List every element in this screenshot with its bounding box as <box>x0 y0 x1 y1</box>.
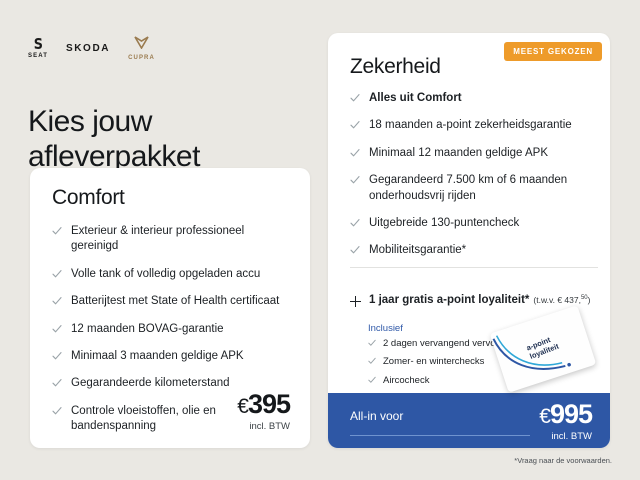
list-item: Mobiliteitsgarantie* <box>350 243 598 258</box>
list-item: Alles uit Comfort <box>350 91 598 106</box>
seat-logo: S SEAT <box>28 38 48 59</box>
check-icon <box>52 324 62 334</box>
check-icon <box>350 175 360 185</box>
status-badge: MEEST GEKOZEN <box>504 42 602 61</box>
allin-price: €995 <box>539 401 592 428</box>
check-icon <box>368 339 376 347</box>
check-icon <box>52 269 62 279</box>
list-item: Gegarandeerd 7.500 km of 6 maanden onder… <box>350 173 598 204</box>
feature-text: Gegarandeerd 7.500 km of 6 maanden onder… <box>369 173 598 204</box>
comfort-title: Comfort <box>52 186 125 210</box>
check-icon <box>350 120 360 130</box>
feature-text: 18 maanden a-point zekerheidsgarantie <box>369 118 572 133</box>
feature-text: Mobiliteitsgarantie* <box>369 243 466 258</box>
skoda-wordmark: SKODA <box>66 43 110 54</box>
worth-cents: 50 <box>581 295 588 301</box>
feature-text: Minimaal 3 maanden geldige APK <box>71 349 292 364</box>
list-item: 12 maanden BOVAG-garantie <box>52 322 292 337</box>
offer-page: S SEAT SKODA CUPRA Kies jouw afleverpakk… <box>0 0 640 480</box>
check-icon <box>350 148 360 158</box>
check-icon <box>52 226 62 236</box>
cupra-logo: CUPRA <box>128 36 155 61</box>
feature-text: Exterieur & interieur professioneel gere… <box>71 224 292 255</box>
zekerheid-feature-list: Alles uit Comfort 18 maanden a-point zek… <box>350 91 598 271</box>
check-icon <box>52 351 62 361</box>
allin-rule <box>350 435 530 436</box>
zekerheid-package-card[interactable]: MEEST GEKOZEN Zekerheid Alles uit Comfor… <box>328 33 610 448</box>
feature-text: Volle tank of volledig opgeladen accu <box>71 267 292 282</box>
list-item: Batterijtest met State of Health certifi… <box>52 294 292 309</box>
plus-icon <box>350 296 360 306</box>
list-item: Minimaal 3 maanden geldige APK <box>52 349 292 364</box>
feature-text: Alles uit Comfort <box>369 91 462 106</box>
worth-suffix: ) <box>588 295 591 305</box>
included-text: 2 dagen vervangend vervoer <box>383 338 504 349</box>
section-divider <box>350 267 598 268</box>
loyalty-worth: (t.w.v. € 437,50) <box>533 295 590 305</box>
comfort-price-block: €395 incl. BTW <box>237 391 290 432</box>
list-item: Minimaal 12 maanden geldige APK <box>350 146 598 161</box>
check-icon <box>52 296 62 306</box>
check-icon <box>350 218 360 228</box>
included-text: Aircocheck <box>383 375 429 386</box>
allin-price-block: €995 incl. BTW <box>539 401 592 442</box>
price-amount: 995 <box>550 399 592 429</box>
list-item: Exterieur & interieur professioneel gere… <box>52 224 292 255</box>
loyalty-label: 1 jaar gratis a-point loyaliteit* <box>369 294 529 306</box>
list-item: Volle tank of volledig opgeladen accu <box>52 267 292 282</box>
feature-text: Minimaal 12 maanden geldige APK <box>369 146 548 161</box>
list-item: 18 maanden a-point zekerheidsgarantie <box>350 118 598 133</box>
feature-text: 12 maanden BOVAG-garantie <box>71 322 292 337</box>
allin-price-note: incl. BTW <box>539 431 592 442</box>
currency-symbol: € <box>237 395 248 418</box>
loyalty-row: 1 jaar gratis a-point loyaliteit*(t.w.v.… <box>350 293 606 308</box>
worth-prefix: (t.w.v. € 437, <box>533 295 581 305</box>
comfort-price-note: incl. BTW <box>237 421 290 432</box>
feature-text: Batterijtest met State of Health certifi… <box>71 294 292 309</box>
brand-logo-row: S SEAT SKODA CUPRA <box>28 36 155 61</box>
skoda-logo: SKODA <box>66 43 110 54</box>
check-icon <box>52 378 62 388</box>
included-text: Zomer- en winterchecks <box>383 356 484 367</box>
comfort-price: €395 <box>237 391 290 418</box>
zekerheid-title: Zekerheid <box>350 55 441 79</box>
check-icon <box>350 245 360 255</box>
currency-symbol: € <box>539 405 550 428</box>
list-item: Uitgebreide 130-puntencheck <box>350 216 598 231</box>
check-icon <box>368 376 376 384</box>
price-amount: 395 <box>248 389 290 419</box>
check-icon <box>368 357 376 365</box>
included-heading: Inclusief <box>368 323 403 334</box>
loyalty-text: 1 jaar gratis a-point loyaliteit*(t.w.v.… <box>369 293 591 308</box>
comfort-package-card[interactable]: Comfort Exterieur & interieur profession… <box>30 168 310 448</box>
allin-price-bar: All-in voor €995 incl. BTW <box>328 393 610 448</box>
check-icon <box>350 93 360 103</box>
cupra-logo-icon <box>134 36 149 54</box>
cupra-wordmark: CUPRA <box>128 55 155 61</box>
footnote: *Vraag naar de voorwaarden. <box>514 456 612 465</box>
page-title: Kies jouw afleverpakket <box>28 105 308 175</box>
seat-logo-icon: S <box>33 38 42 51</box>
seat-wordmark: SEAT <box>28 53 48 59</box>
check-icon <box>52 406 62 416</box>
allin-label: All-in voor <box>350 409 403 423</box>
feature-text: Uitgebreide 130-puntencheck <box>369 216 519 231</box>
